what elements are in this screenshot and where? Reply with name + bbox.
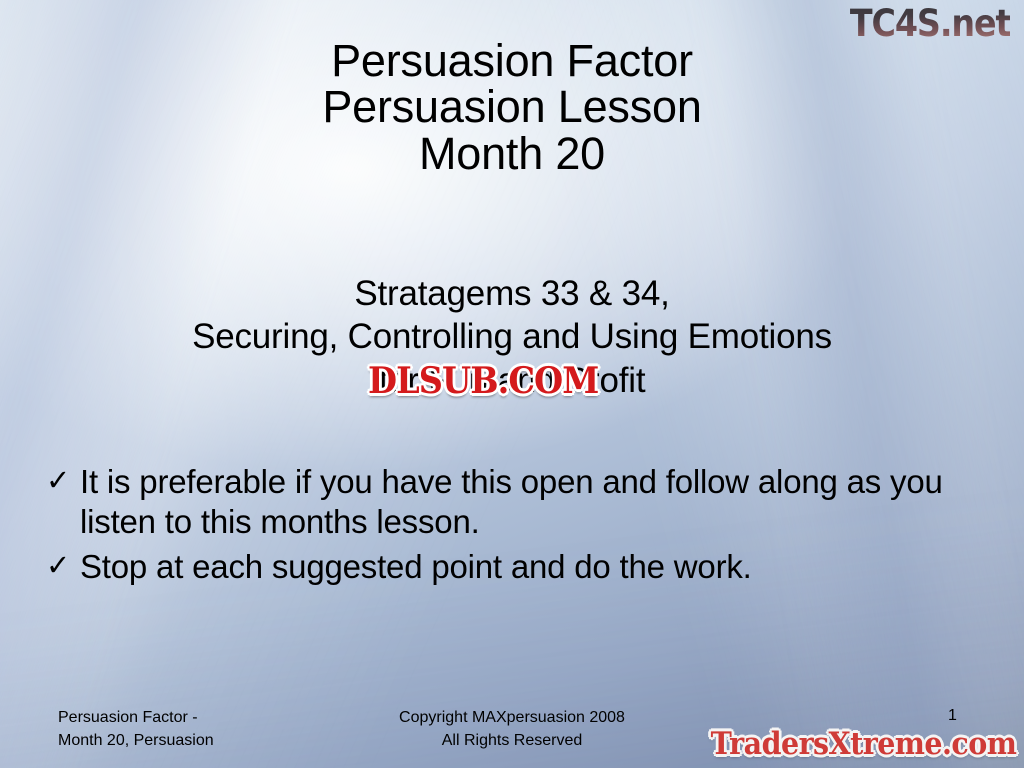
- subtitle-line-2: Securing, Controlling and Using Emotions: [0, 315, 1024, 358]
- list-item-text: It is preferable if you have this open a…: [80, 462, 976, 543]
- page-number: 1: [948, 707, 957, 725]
- presentation-slide: Persuasion Factor Persuasion Lesson Mont…: [0, 0, 1024, 768]
- title-line-2: Persuasion Lesson: [0, 84, 1024, 130]
- slide-title: Persuasion Factor Persuasion Lesson Mont…: [0, 38, 1024, 177]
- list-item: ✓ Stop at each suggested point and do th…: [46, 547, 976, 587]
- tradersxtreme-watermark: TradersXtreme.com: [710, 726, 1016, 762]
- checkmark-icon: ✓: [46, 462, 80, 501]
- dlsub-watermark: DLSUB.COM: [368, 360, 598, 402]
- list-item-text: Stop at each suggested point and do the …: [80, 547, 976, 587]
- subtitle-line-1: Stratagems 33 & 34,: [0, 272, 1024, 315]
- tc4s-watermark: TC4S.net: [849, 2, 1010, 45]
- bullet-list: ✓ It is preferable if you have this open…: [46, 462, 976, 591]
- title-line-3: Month 20: [0, 131, 1024, 177]
- list-item: ✓ It is preferable if you have this open…: [46, 462, 976, 543]
- checkmark-icon: ✓: [46, 547, 80, 586]
